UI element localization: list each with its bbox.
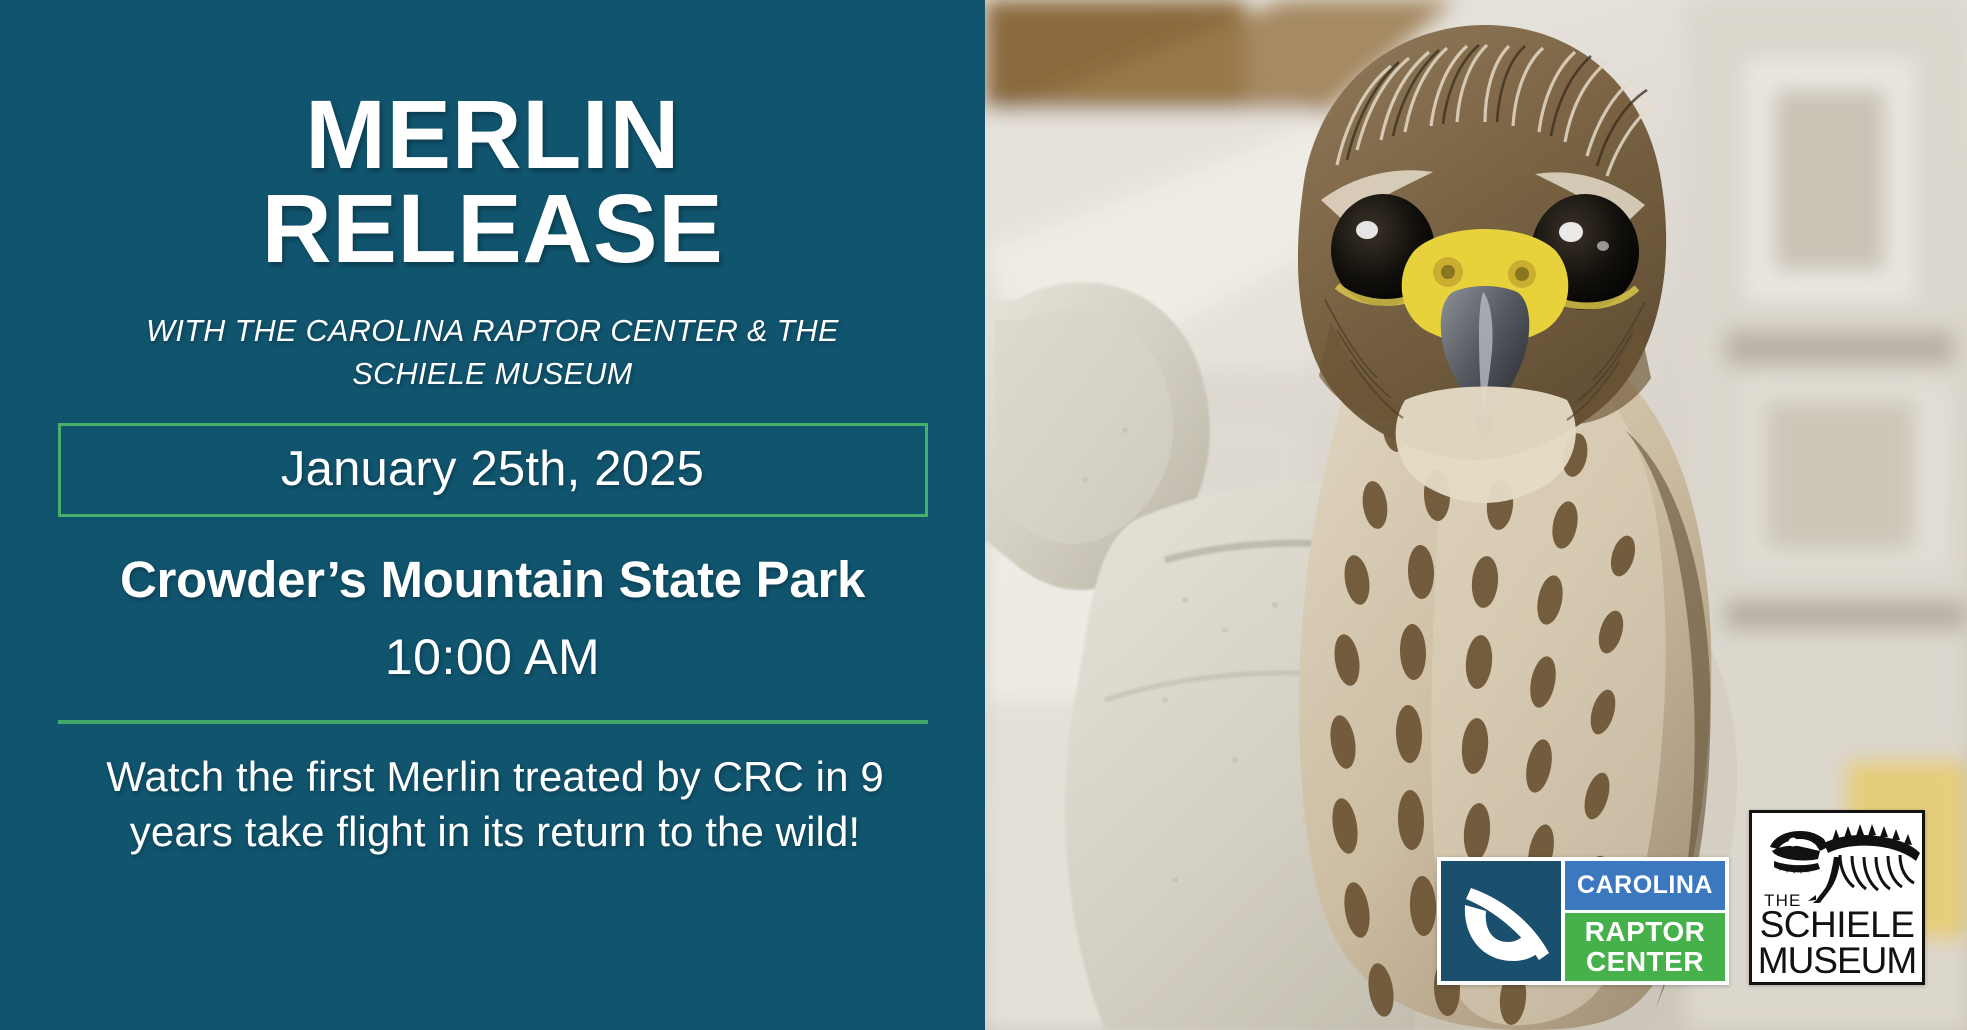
crc-wordmark: CAROLINA RAPTOR CENTER bbox=[1565, 861, 1725, 981]
event-date: January 25th, 2025 bbox=[281, 445, 704, 494]
page-title: MERLIN RELEASE bbox=[55, 88, 930, 276]
crc-band-carolina: CAROLINA bbox=[1565, 861, 1725, 910]
title-line-2: RELEASE bbox=[55, 182, 930, 276]
schiele-text-schiele: SCHIELE bbox=[1760, 904, 1915, 945]
crc-text-center: CENTER bbox=[1586, 947, 1704, 977]
title-line-1: MERLIN bbox=[305, 80, 680, 189]
carolina-raptor-center-logo[interactable]: CAROLINA RAPTOR CENTER bbox=[1437, 857, 1729, 985]
crc-wing-icon bbox=[1441, 861, 1561, 981]
event-poster: MERLIN RELEASE WITH THE CAROLINA RAPTOR … bbox=[0, 0, 1967, 1030]
event-date-box: January 25th, 2025 bbox=[58, 423, 928, 517]
info-panel-content: MERLIN RELEASE WITH THE CAROLINA RAPTOR … bbox=[0, 0, 985, 859]
raptor-c-mark-icon bbox=[1441, 861, 1561, 981]
info-panel: MERLIN RELEASE WITH THE CAROLINA RAPTOR … bbox=[0, 0, 985, 1030]
partner-logos: CAROLINA RAPTOR CENTER bbox=[1437, 810, 1925, 985]
schiele-museum-logo[interactable]: THE SCHIELE MUSEUM bbox=[1749, 810, 1925, 985]
crc-text-carolina: CAROLINA bbox=[1577, 873, 1713, 898]
crc-text-raptor: RAPTOR bbox=[1585, 917, 1706, 947]
schiele-wordmark: SCHIELE MUSEUM bbox=[1752, 907, 1922, 980]
event-subtitle: WITH THE CAROLINA RAPTOR CENTER & THE SC… bbox=[55, 310, 930, 397]
event-time: 10:00 AM bbox=[55, 632, 930, 682]
crc-band-raptor-center: RAPTOR CENTER bbox=[1565, 913, 1725, 981]
section-divider bbox=[58, 720, 928, 724]
merlin-photo: CAROLINA RAPTOR CENTER bbox=[985, 0, 1967, 1030]
schiele-text-museum: MUSEUM bbox=[1752, 943, 1922, 979]
event-description: Watch the first Merlin treated by CRC in… bbox=[55, 750, 935, 859]
event-venue: Crowder’s Mountain State Park bbox=[55, 553, 930, 607]
